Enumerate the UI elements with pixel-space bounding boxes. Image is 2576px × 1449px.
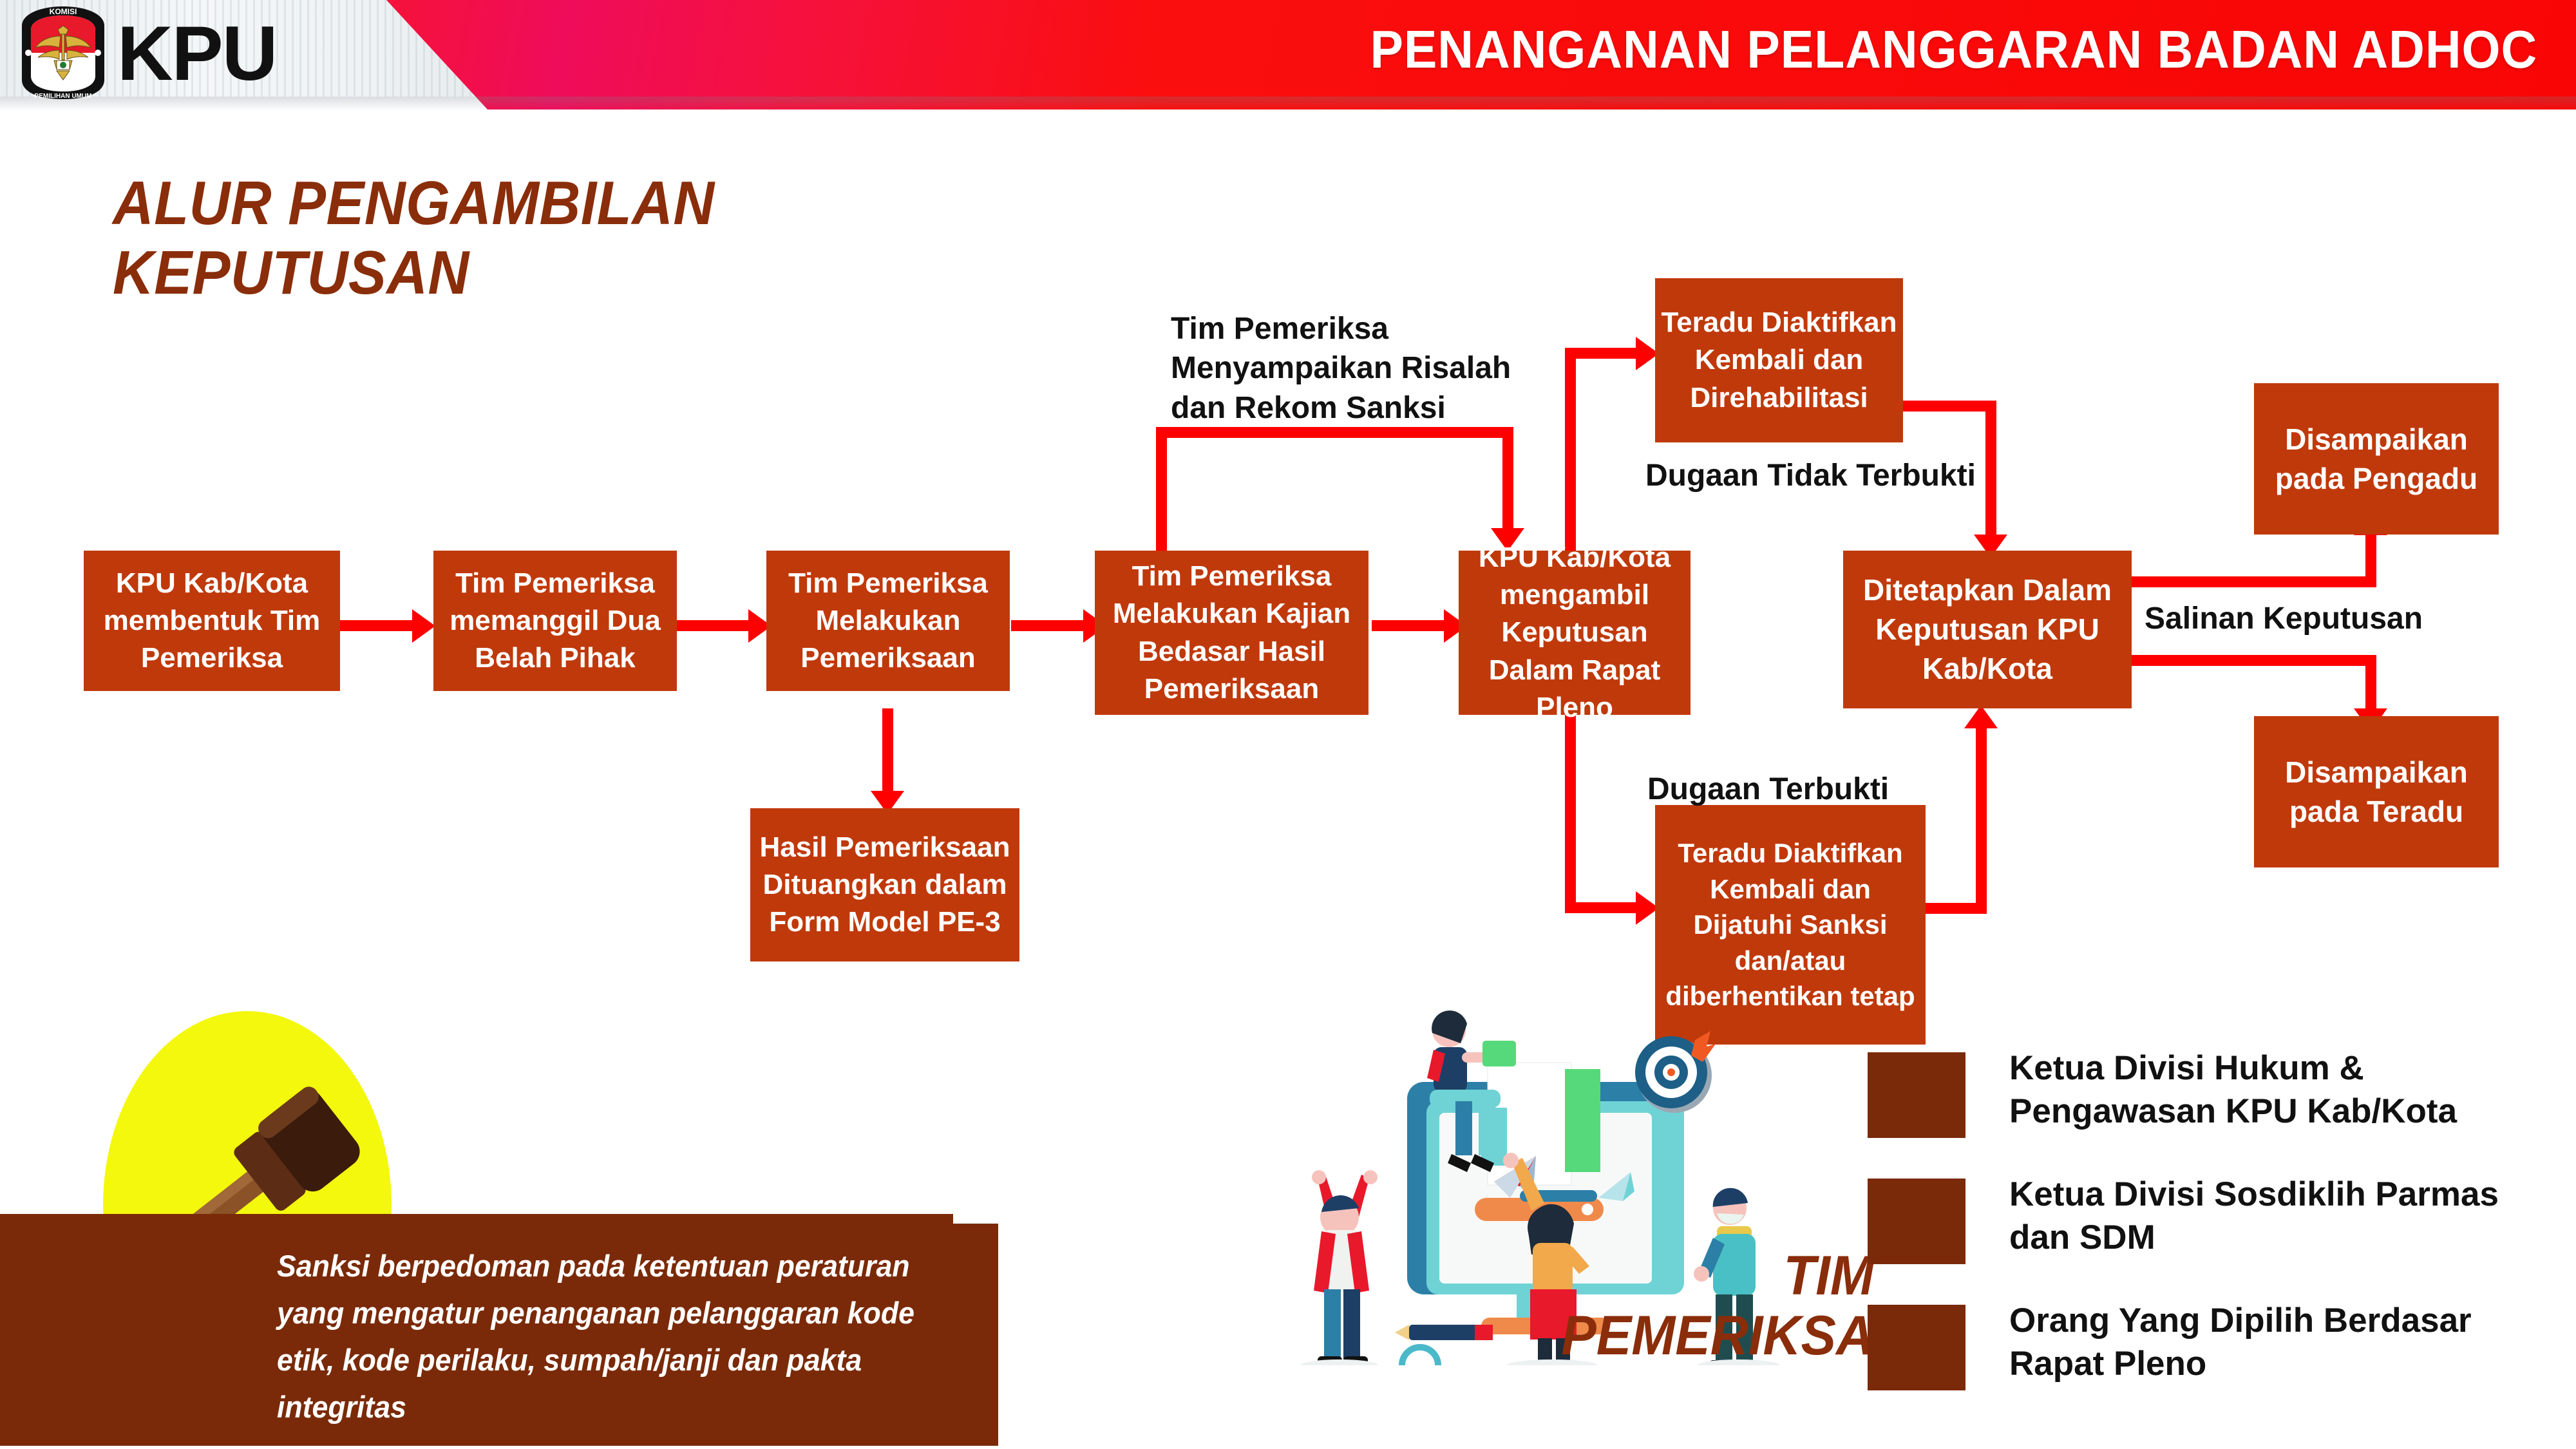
kpu-garuda-emblem-icon: KOMISI PEMILIHAN UMUM: [14, 4, 112, 102]
page-title-line2: KEPUTUSAN: [113, 238, 883, 308]
flow-box-pemeriksaan[interactable]: Tim Pemeriksa Melakukan Pemeriksaan: [766, 551, 1010, 691]
team-title-line1: TIM: [1434, 1246, 1874, 1306]
connector-pleno-right: [1565, 348, 1642, 359]
page-title-banner: PENANGANAN PELANGGARAN BADAN ADHOC: [1370, 14, 2537, 85]
team-title: TIM PEMERIKSA: [1434, 1246, 1874, 1366]
legend-item[interactable]: Ketua Divisi Hukum & Pengawasan KPU Kab/…: [1868, 1050, 2563, 1153]
legend-item[interactable]: Ketua Divisi Sosdiklih Parmas dan SDM: [1868, 1176, 2563, 1279]
page-title: ALUR PENGAMBILAN KEPUTUSAN: [113, 169, 883, 307]
flow-box-form-pe3[interactable]: Hasil Pemeriksaan Dituangkan dalam Form …: [750, 808, 1019, 961]
arrowhead-keputusan-bottom: [1964, 705, 1998, 728]
flow-box-kpu-membentuk[interactable]: KPU Kab/Kota membentuk Tim Pemeriksa: [84, 551, 340, 691]
connector-pengadu-h: [2132, 576, 2376, 587]
legend-swatch-icon: [1868, 1179, 1965, 1264]
page-header: KOMISI PEMILIHAN UMUM KPU PENANGANAN PEL…: [0, 0, 2576, 111]
flow-label-risalah: Tim Pemeriksa Menyampaikan Risalah dan R…: [1171, 309, 1570, 428]
team-legend: Ketua Divisi Hukum & Pengawasan KPU Kab/…: [1868, 1050, 2563, 1428]
connector-teradu-h: [2132, 655, 2376, 666]
connector-4: [1372, 620, 1449, 631]
connector-risalah-across: [1156, 427, 1513, 438]
connector-1: [340, 620, 417, 631]
flow-box-kajian[interactable]: Tim Pemeriksa Melakukan Kajian Bedasar H…: [1095, 551, 1368, 715]
connector-sanksi-right: [1565, 902, 1642, 913]
flow-box-keputusan-kpu[interactable]: Ditetapkan Dalam Keputusan KPU Kab/Kota: [1843, 551, 2132, 708]
flow-box-pengadu[interactable]: Disampaikan pada Pengadu: [2254, 383, 2499, 535]
flow-box-teradu[interactable]: Disampaikan pada Teradu: [2254, 716, 2499, 867]
logo-top-text: KOMISI: [50, 7, 77, 16]
legend-swatch-icon: [1868, 1052, 1965, 1138]
header-shadow: [0, 97, 2576, 111]
connector-pleno-down: [1565, 696, 1576, 913]
connector-risalah-down: [1502, 427, 1513, 536]
connector-3: [1011, 620, 1088, 631]
legend-label: Orang Yang Dipilih Berdasar Rapat Pleno: [2009, 1300, 2563, 1386]
legend-swatch-icon: [1868, 1305, 1965, 1390]
logo-bottom-text: PEMILIHAN UMUM: [35, 93, 92, 100]
brand-name: KPU: [117, 5, 276, 102]
note-text: Sanksi berpedoman pada ketentuan peratur…: [277, 1243, 944, 1430]
legend-label: Ketua Divisi Sosdiklih Parmas dan SDM: [2009, 1173, 2563, 1260]
flow-label-terbukti: Dugaan Terbukti: [1647, 770, 2047, 809]
connector-pengadu-v: [2365, 535, 2376, 587]
arrowhead-1: [412, 609, 435, 643]
connector-teradu-v: [2365, 655, 2376, 716]
connector-pe3: [882, 708, 893, 799]
legend-label: Ketua Divisi Hukum & Pengawasan KPU Kab/…: [2009, 1047, 2563, 1133]
connector-2: [676, 620, 753, 631]
flow-box-rapat-pleno[interactable]: KPU Kab/Kota mengambil Keputusan Dalam R…: [1459, 551, 1690, 715]
flow-box-memanggil[interactable]: Tim Pemeriksa memanggil Dua Belah Pihak: [433, 551, 677, 691]
connector-rehab-out: [1900, 401, 1996, 412]
team-title-line2: PEMERIKSA: [1434, 1306, 1874, 1366]
flow-box-direhabilitasi[interactable]: Teradu Diaktifkan Kembali dan Direhabili…: [1655, 278, 1903, 442]
flow-label-salinan: Salinan Keputusan: [2145, 599, 2479, 638]
page-title-line1: ALUR PENGAMBILAN: [113, 169, 883, 238]
legend-item[interactable]: Orang Yang Dipilih Berdasar Rapat Pleno: [1868, 1302, 2563, 1405]
flow-label-tidak-terbukti: Dugaan Tidak Terbukti: [1645, 456, 2045, 495]
connector-sanksi-up: [1976, 728, 1987, 908]
